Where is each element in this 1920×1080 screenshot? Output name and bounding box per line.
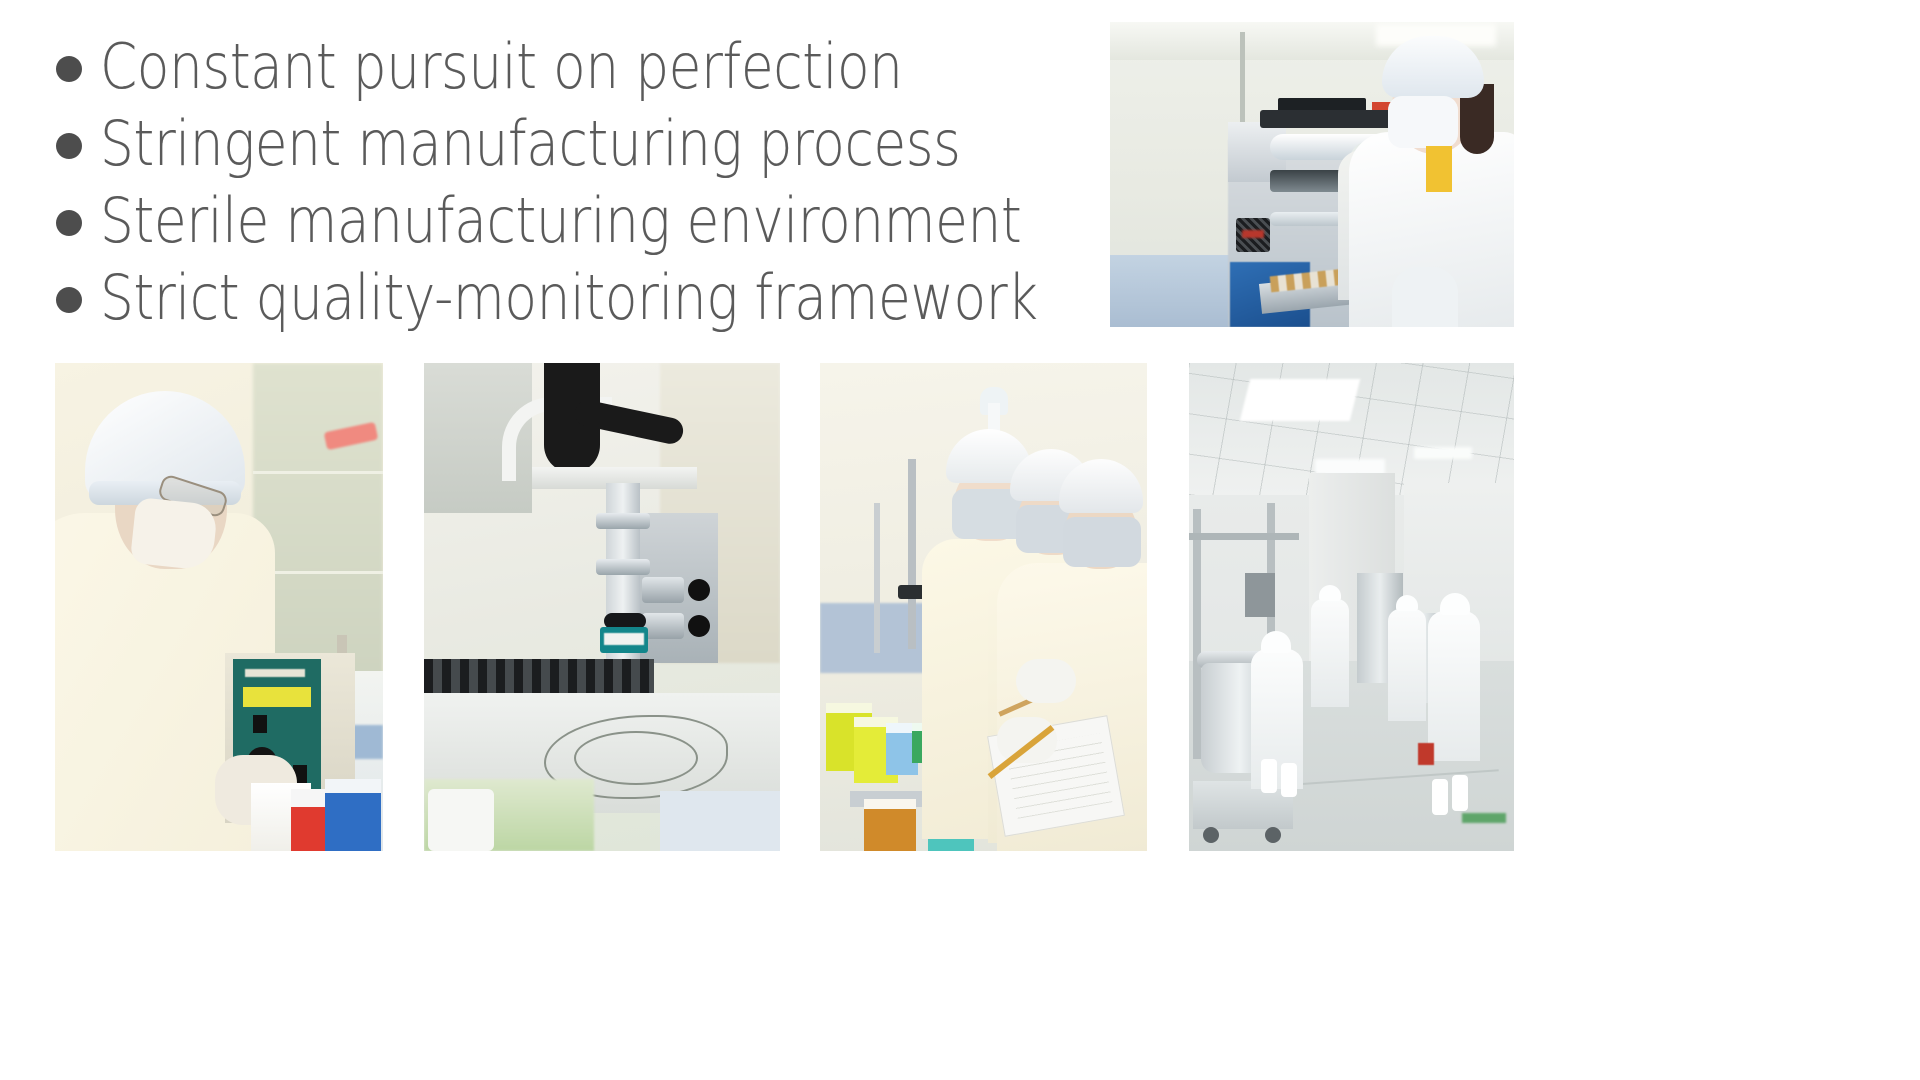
sensor-label [604, 633, 644, 645]
list-item: Constant pursuit on perfection [56, 28, 1116, 105]
fitting-cap [688, 615, 710, 637]
bullet-list: Constant pursuit on perfection Stringent… [56, 28, 1116, 336]
bullet-dot-icon [56, 133, 82, 159]
glove [1392, 267, 1458, 327]
brand-label [245, 669, 305, 677]
gloved-hand [997, 717, 1057, 763]
bullet-text: Constant pursuit on perfection [100, 36, 903, 98]
bullet-dot-icon [56, 210, 82, 236]
retort-stand-rod [874, 503, 880, 653]
green-mat [1462, 813, 1506, 823]
trolley-wheel [1265, 827, 1281, 843]
fan-label [1242, 230, 1264, 238]
bullet-dot-icon [56, 287, 82, 313]
face-mask [130, 497, 218, 571]
photo-packaging-line [1110, 22, 1514, 327]
viscometer-display [243, 687, 311, 707]
red-container [1418, 743, 1434, 765]
toggle-switch [253, 715, 267, 733]
bullet-dot-icon [56, 56, 82, 82]
conveyor-belt [424, 659, 654, 695]
list-item: Sterile manufacturing environment [56, 182, 1116, 259]
white-boot [1281, 763, 1297, 797]
floor-blur [660, 791, 780, 851]
worker-body [1388, 609, 1426, 721]
white-container [428, 789, 494, 851]
gloved-hand [1016, 659, 1076, 703]
hairnet [1319, 585, 1341, 601]
white-boot [1261, 759, 1277, 793]
nozzle-collar [596, 559, 650, 575]
bullet-text: Strict quality-monitoring framework [100, 267, 1038, 329]
trolley-wheel [1203, 827, 1219, 843]
photo-production-hall [1189, 363, 1514, 851]
white-boot [1432, 779, 1448, 815]
beaker-blue-liquid [325, 779, 381, 851]
tray-marking [574, 731, 698, 785]
ceiling-light-panel [1240, 379, 1360, 421]
hairnet [1440, 593, 1470, 615]
ceiling-light-panel [1414, 447, 1472, 459]
photo-lab-viscometer [55, 363, 383, 851]
photo-filling-machine [424, 363, 780, 851]
white-boot [1452, 775, 1468, 811]
fitting-cap [688, 579, 710, 601]
cabinet-shelf [253, 471, 383, 474]
face-mask [1063, 517, 1141, 567]
bullet-text: Sterile manufacturing environment [100, 190, 1021, 252]
frame-beam [1189, 533, 1299, 540]
retort-stand-rod [908, 459, 916, 649]
worker-body [1311, 599, 1349, 707]
hairnet [1396, 595, 1418, 611]
bullet-text: Stringent manufacturing process [100, 113, 960, 175]
list-item: Strict quality-monitoring framework [56, 259, 1116, 336]
equipment-frame [1193, 509, 1201, 759]
beaker-amber [864, 799, 916, 851]
pipe-fitting [642, 577, 684, 603]
mixer-motor [1245, 573, 1275, 617]
photo-qc-inspection [820, 363, 1147, 851]
pipe-fitting [642, 613, 684, 639]
hairnet [1261, 631, 1291, 653]
yellow-collar [1426, 146, 1452, 192]
nozzle-collar [596, 513, 650, 529]
list-item: Stringent manufacturing process [56, 105, 1116, 182]
face-mask [1388, 96, 1458, 148]
worker-body [1428, 611, 1480, 761]
